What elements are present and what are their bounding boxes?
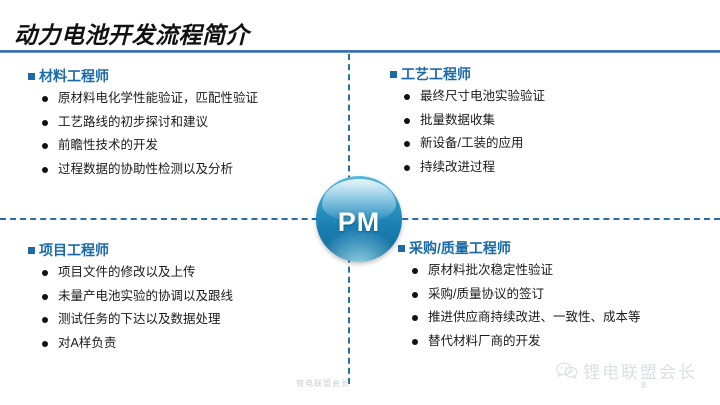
page-title: 动力电池开发流程简介 xyxy=(14,16,249,50)
center-node-label: PM xyxy=(316,176,402,262)
list-item: 测试任务的下达以及数据处理 xyxy=(42,313,328,326)
center-watermark: 锂电联盟会长 xyxy=(296,378,350,389)
list-item: 工艺路线的初步探讨和建议 xyxy=(42,116,328,129)
list-item: 替代材料厂商的开发 xyxy=(412,335,708,348)
center-node-pm: PM xyxy=(316,176,402,262)
list-item: 采购/质量协议的签订 xyxy=(412,288,708,301)
quadrant-material-engineer: 材料工程师 原材料电化学性能验证，匹配性验证 工艺路线的初步探讨和建议 前瞻性技… xyxy=(28,66,328,186)
quadrant-heading-label: 工艺工程师 xyxy=(401,64,471,84)
square-bullet-icon xyxy=(28,73,35,80)
quadrant-heading-label: 采购/质量工程师 xyxy=(409,238,511,258)
list-item: 过程数据的协助性检测以及分析 xyxy=(42,163,328,176)
list-item: 对A样负责 xyxy=(42,337,328,350)
title-underline-rule xyxy=(0,50,720,53)
list-item: 未量产电池实验的协调以及跟线 xyxy=(42,290,328,303)
square-bullet-icon xyxy=(390,71,397,78)
quadrant-heading-label: 项目工程师 xyxy=(39,240,109,260)
wechat-icon xyxy=(556,362,578,379)
quadrant-heading-purchasing-quality-engineer: 采购/质量工程师 xyxy=(398,238,708,258)
quadrant-heading-material-engineer: 材料工程师 xyxy=(28,66,328,86)
slide-canvas: 动力电池开发流程简介 材料工程师 原材料电化学性能验证，匹配性验证 工艺路线的初… xyxy=(0,0,720,405)
list-item: 持续改进过程 xyxy=(404,161,700,174)
bullet-list-material-engineer: 原材料电化学性能验证，匹配性验证 工艺路线的初步探讨和建议 前瞻性技术的开发 过… xyxy=(28,92,328,175)
list-item: 项目文件的修改以及上传 xyxy=(42,266,328,279)
square-bullet-icon xyxy=(28,247,35,254)
list-item: 原材料批次稳定性验证 xyxy=(412,264,708,277)
quadrant-heading-label: 材料工程师 xyxy=(39,66,109,86)
list-item: 批量数据收集 xyxy=(404,114,700,127)
list-item: 前瞻性技术的开发 xyxy=(42,139,328,152)
brand-watermark-label: 锂电联盟会长 xyxy=(583,358,697,383)
list-item: 最终尺寸电池实验验证 xyxy=(404,90,700,103)
list-item: 新设备/工装的应用 xyxy=(404,137,700,150)
quadrant-purchasing-quality-engineer: 采购/质量工程师 原材料批次稳定性验证 采购/质量协议的签订 推进供应商持续改进… xyxy=(398,238,708,358)
bullet-list-process-engineer: 最终尺寸电池实验验证 批量数据收集 新设备/工装的应用 持续改进过程 xyxy=(390,90,700,173)
page-number: 8 xyxy=(641,380,646,390)
bullet-list-project-engineer: 项目文件的修改以及上传 未量产电池实验的协调以及跟线 测试任务的下达以及数据处理… xyxy=(28,266,328,349)
quadrant-heading-project-engineer: 项目工程师 xyxy=(28,240,328,260)
list-item: 推进供应商持续改进、一致性、成本等 xyxy=(412,311,708,324)
brand-watermark: 锂电联盟会长 xyxy=(556,358,697,383)
quadrant-process-engineer: 工艺工程师 最终尺寸电池实验验证 批量数据收集 新设备/工装的应用 持续改进过程 xyxy=(390,64,700,184)
quadrant-project-engineer: 项目工程师 项目文件的修改以及上传 未量产电池实验的协调以及跟线 测试任务的下达… xyxy=(28,240,328,360)
list-item: 原材料电化学性能验证，匹配性验证 xyxy=(42,92,328,105)
quadrant-heading-process-engineer: 工艺工程师 xyxy=(390,64,700,84)
bullet-list-purchasing-quality-engineer: 原材料批次稳定性验证 采购/质量协议的签订 推进供应商持续改进、一致性、成本等 … xyxy=(398,264,708,347)
